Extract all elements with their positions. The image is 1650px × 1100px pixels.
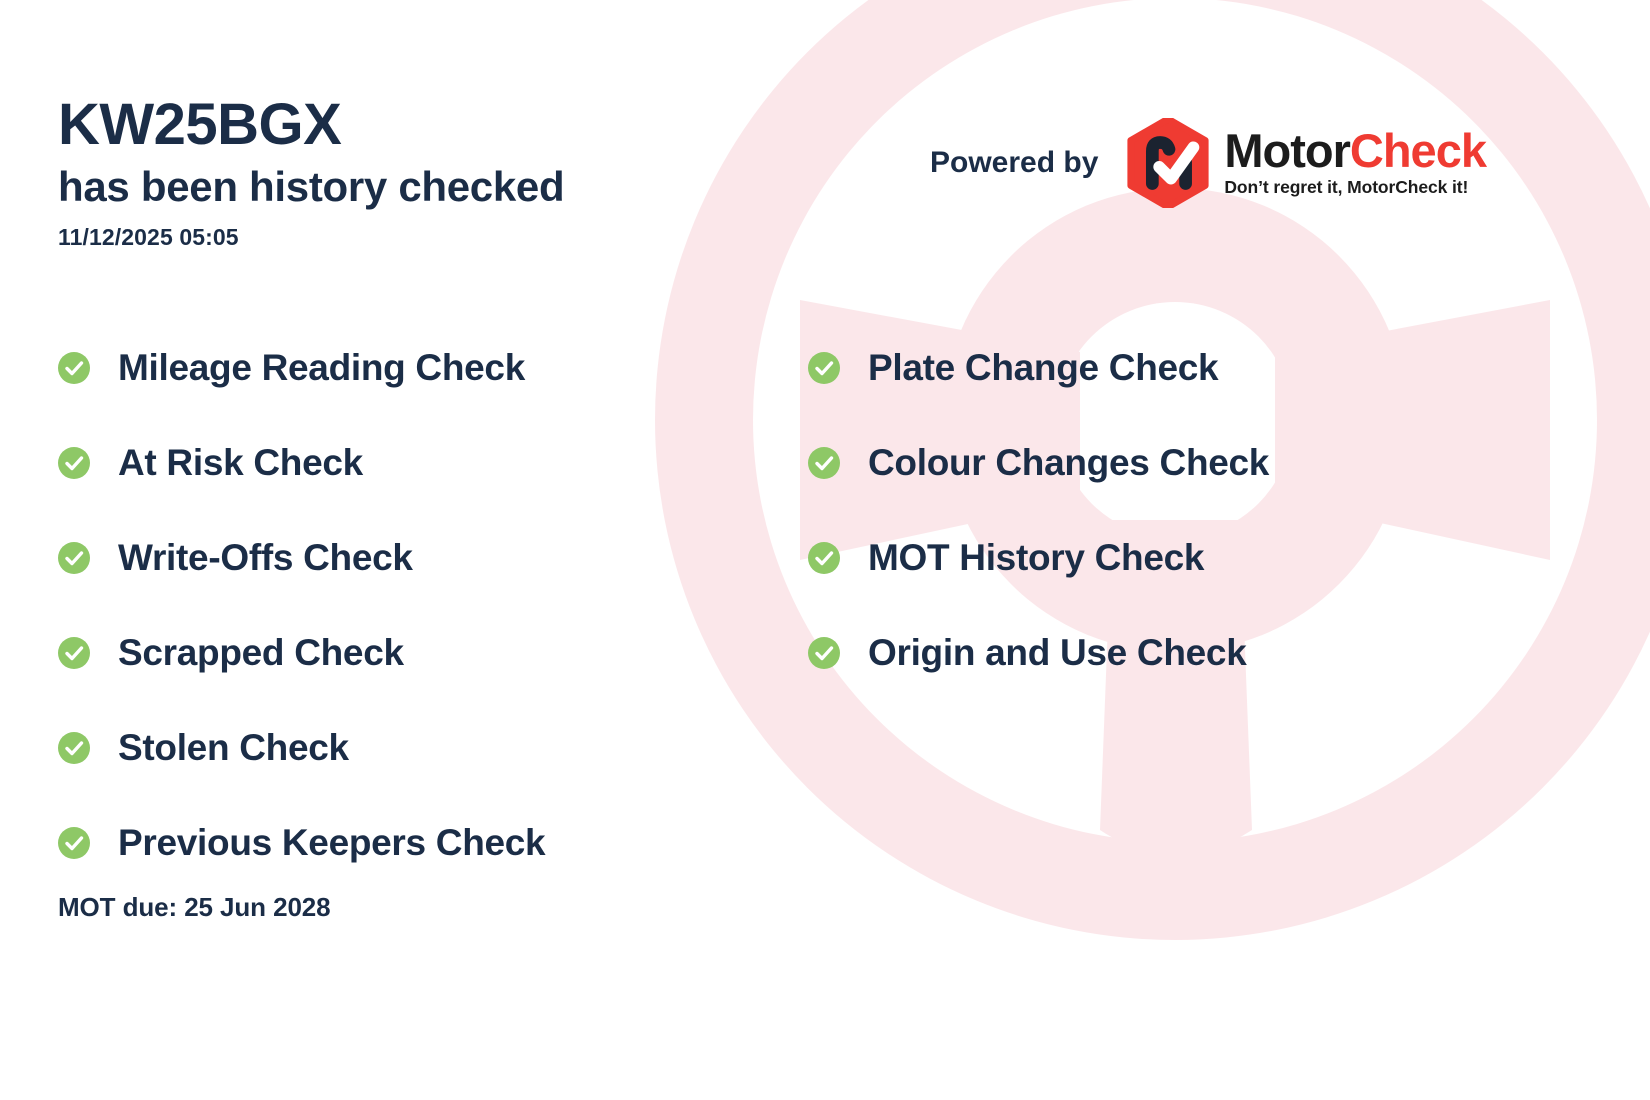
check-circle-icon (58, 542, 90, 574)
powered-by-block: Powered by MotorCheck Don’t regret it, M… (930, 118, 1486, 208)
check-label: Plate Change Check (868, 349, 1218, 386)
list-item: Scrapped Check (58, 605, 808, 700)
vehicle-history-check-card: KW25BGX has been history checked 11/12/2… (0, 0, 1650, 1100)
check-circle-icon (808, 352, 840, 384)
check-timestamp: 11/12/2025 05:05 (58, 224, 778, 251)
motorcheck-wordmark: MotorCheck (1224, 128, 1486, 174)
checks-column-right: Plate Change Check Colour Changes Check … (808, 320, 1548, 890)
check-circle-icon (808, 542, 840, 574)
list-item: Origin and Use Check (808, 605, 1548, 700)
check-circle-icon (58, 447, 90, 479)
check-label: Previous Keepers Check (118, 824, 545, 861)
motorcheck-logo-text: MotorCheck Don’t regret it, MotorCheck i… (1224, 128, 1486, 197)
list-item: Plate Change Check (808, 320, 1548, 415)
mot-due-text: MOT due: 25 Jun 2028 (58, 892, 331, 922)
check-label: Stolen Check (118, 729, 349, 766)
motorcheck-logo[interactable]: MotorCheck Don’t regret it, MotorCheck i… (1126, 118, 1486, 208)
check-label: Mileage Reading Check (118, 349, 525, 386)
check-circle-icon (58, 637, 90, 669)
motorcheck-hexagon-icon (1126, 118, 1210, 208)
logo-word-check: Check (1350, 124, 1486, 177)
list-item: Write-Offs Check (58, 510, 808, 605)
check-circle-icon (58, 732, 90, 764)
list-item: Mileage Reading Check (58, 320, 808, 415)
list-item: Colour Changes Check (808, 415, 1548, 510)
checks-grid: Mileage Reading Check At Risk Check Writ… (58, 320, 1598, 890)
page-title-registration-plate: KW25BGX (58, 96, 778, 154)
powered-by-label: Powered by (930, 146, 1098, 180)
logo-tagline: Don’t regret it, MotorCheck it! (1224, 177, 1486, 198)
check-circle-icon (808, 637, 840, 669)
list-item: Stolen Check (58, 700, 808, 795)
list-item: Previous Keepers Check (58, 795, 808, 890)
list-item: At Risk Check (58, 415, 808, 510)
check-circle-icon (58, 827, 90, 859)
check-label: Scrapped Check (118, 634, 404, 671)
check-label: Colour Changes Check (868, 444, 1269, 481)
footer-block: MOT due: 25 Jun 2028 (58, 892, 331, 923)
check-label: MOT History Check (868, 539, 1204, 576)
check-label: At Risk Check (118, 444, 363, 481)
header-block: KW25BGX has been history checked 11/12/2… (58, 96, 778, 251)
checks-column-left: Mileage Reading Check At Risk Check Writ… (58, 320, 808, 890)
check-label: Origin and Use Check (868, 634, 1247, 671)
check-circle-icon (808, 447, 840, 479)
logo-word-motor: Motor (1224, 124, 1350, 177)
check-circle-icon (58, 352, 90, 384)
check-label: Write-Offs Check (118, 539, 413, 576)
list-item: MOT History Check (808, 510, 1548, 605)
page-subtitle: has been history checked (58, 162, 778, 212)
